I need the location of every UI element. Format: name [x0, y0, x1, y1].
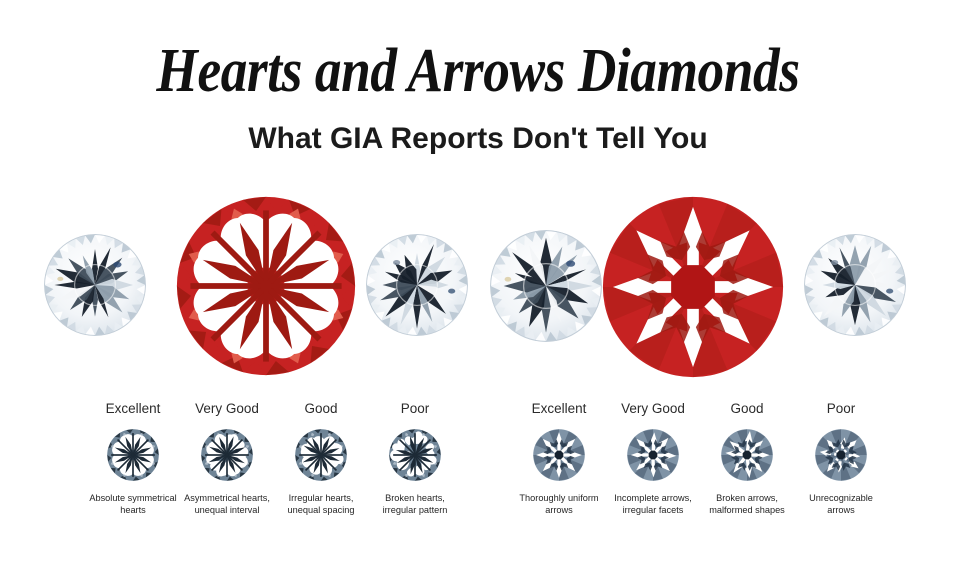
arrows-grade-group: ExcellentThoroughly uniform arrowsVery G…: [512, 402, 888, 516]
page-title: Hearts and Arrows Diamonds: [67, 40, 889, 102]
grade-cell-hearts-poor[interactable]: PoorBroken hearts, irregular pattern: [368, 402, 462, 516]
grade-caption: Asymmetrical hearts, unequal interval: [180, 493, 274, 516]
hearts-grade-group: ExcellentAbsolute symmetrical heartsVery…: [86, 402, 462, 516]
infographic-page: Hearts and Arrows Diamonds What GIA Repo…: [0, 0, 956, 576]
grade-caption: Broken hearts, irregular pattern: [368, 493, 462, 516]
grade-cell-arrows-poor[interactable]: PoorUnrecognizable arrows: [794, 402, 888, 516]
grade-caption: Irregular hearts, unequal spacing: [274, 493, 368, 516]
grade-label: Good: [700, 402, 794, 418]
grade-cell-arrows-excellent[interactable]: ExcellentThoroughly uniform arrows: [512, 402, 606, 516]
diamond-photo-right-2: [804, 234, 906, 336]
grade-arrows-pattern-icon: [815, 429, 867, 481]
grade-hearts-pattern-icon: [295, 429, 347, 481]
grade-cell-arrows-verygood[interactable]: Very GoodIncomplete arrows, irregular fa…: [606, 402, 700, 516]
grade-arrows-pattern-icon: [533, 429, 585, 481]
grade-cell-hearts-good[interactable]: GoodIrregular hearts, unequal spacing: [274, 402, 368, 516]
grade-cell-hearts-verygood[interactable]: Very GoodAsymmetrical hearts, unequal in…: [180, 402, 274, 516]
grade-scale-section: ExcellentAbsolute symmetrical heartsVery…: [0, 402, 956, 542]
grade-caption: Incomplete arrows, irregular facets: [606, 493, 700, 516]
grade-caption: Thoroughly uniform arrows: [512, 493, 606, 516]
grade-label: Very Good: [606, 402, 700, 418]
grade-label: Poor: [794, 402, 888, 418]
grade-caption: Absolute symmetrical hearts: [86, 493, 180, 516]
arrows-pattern-large: [602, 196, 784, 378]
grade-caption: Unrecognizable arrows: [794, 493, 888, 516]
grade-hearts-pattern-icon: [201, 429, 253, 481]
hero-diamond-row: [0, 186, 956, 386]
grade-arrows-pattern-icon: [721, 429, 773, 481]
header: Hearts and Arrows Diamonds What GIA Repo…: [0, 0, 956, 154]
grade-cell-arrows-good[interactable]: GoodBroken arrows, malformed shapes: [700, 402, 794, 516]
grade-hearts-pattern-icon: [107, 429, 159, 481]
grade-label: Excellent: [512, 402, 606, 418]
grade-arrows-pattern-icon: [627, 429, 679, 481]
grade-cell-hearts-excellent[interactable]: ExcellentAbsolute symmetrical hearts: [86, 402, 180, 516]
grade-label: Excellent: [86, 402, 180, 418]
grade-label: Poor: [368, 402, 462, 418]
grade-hearts-pattern-icon: [389, 429, 441, 481]
page-subtitle: What GIA Reports Don't Tell You: [0, 124, 956, 154]
round-brilliant-diamond-icon: [366, 234, 468, 336]
hearts-pattern-large: [176, 196, 356, 376]
diamond-photo-left-2: [366, 234, 468, 336]
round-brilliant-diamond-icon: [490, 230, 602, 342]
diamond-photo-left-1: [44, 234, 146, 336]
hearts-pattern-icon: [176, 196, 356, 376]
grade-label: Good: [274, 402, 368, 418]
round-brilliant-diamond-icon: [804, 234, 906, 336]
diamond-photo-right-1: [490, 230, 602, 342]
grade-label: Very Good: [180, 402, 274, 418]
grade-caption: Broken arrows, malformed shapes: [700, 493, 794, 516]
arrows-pattern-icon: [602, 196, 784, 378]
round-brilliant-diamond-icon: [44, 234, 146, 336]
